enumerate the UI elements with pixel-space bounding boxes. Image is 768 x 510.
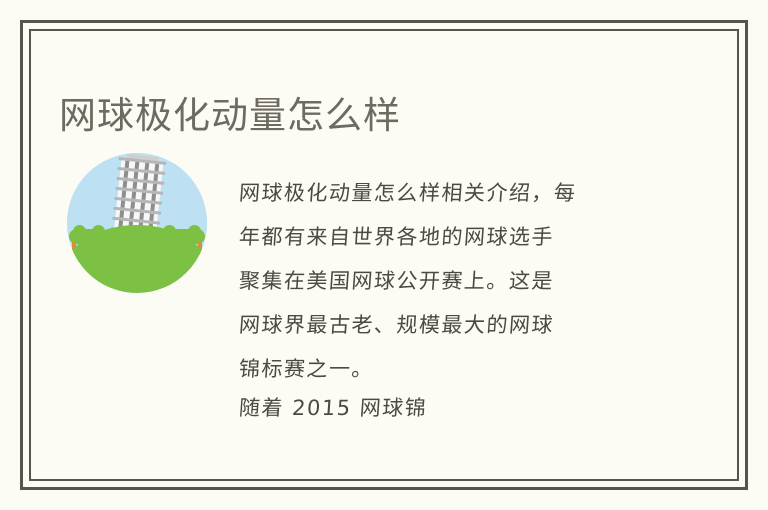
article-body: 网球极化动量怎么样相关介绍，每 年都有来自世界各地的网球选手 聚集在美国网球公开… <box>59 141 709 441</box>
page-title: 网球极化动量怎么样 <box>59 94 401 138</box>
text-line: 年都有来自世界各地的网球选手 <box>237 215 690 259</box>
paragraph: 随着 2015 网球锦 <box>239 391 689 425</box>
text-line: 锦标赛之一。 <box>237 347 690 391</box>
leaning-tower-illustration <box>67 153 207 293</box>
text-line: 聚集在美国网球公开赛上。这是 <box>237 259 690 303</box>
article-content: 网球极化动量怎么样 <box>29 29 739 481</box>
text-line: 随着 2015 网球锦 <box>238 391 690 425</box>
text-line: 网球极化动量怎么样相关介绍，每 <box>237 171 690 215</box>
article-text: 网球极化动量怎么样相关介绍，每 年都有来自世界各地的网球选手 聚集在美国网球公开… <box>239 171 689 425</box>
text-line: 网球界最古老、规模最大的网球 <box>237 303 690 347</box>
article-page: 网球极化动量怎么样 <box>0 0 768 510</box>
paragraph: 网球极化动量怎么样相关介绍，每 年都有来自世界各地的网球选手 聚集在美国网球公开… <box>239 171 689 391</box>
